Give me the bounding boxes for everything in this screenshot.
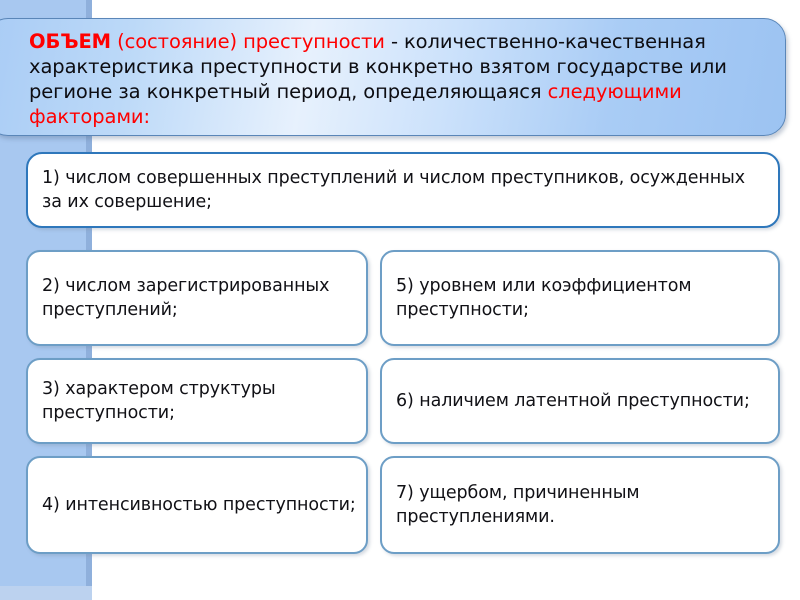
factor-box-3[interactable]: 3) характером структуры преступности; [26,358,368,444]
bottom-decorative-band [0,586,92,600]
factor-text-3: 3) характером структуры преступности; [42,377,356,425]
header-term-state: (состояние) преступности [111,30,385,53]
factor-box-4[interactable]: 4) интенсивностью преступности; [26,456,368,554]
slide-canvas: ОБЪЕМ (состояние) преступности - количес… [0,0,800,600]
factor-box-7[interactable]: 7) ущербом, причиненным преступлениями. [380,456,780,554]
factor-text-5: 5) уровнем или коэффициентом преступност… [396,274,768,322]
factor-box-2[interactable]: 2) числом зарегистрированных преступлени… [26,250,368,346]
factor-box-6[interactable]: 6) наличием латентной преступности; [380,358,780,444]
header-term-volume: ОБЪЕМ [29,30,111,53]
factor-box-5[interactable]: 5) уровнем или коэффициентом преступност… [380,250,780,346]
factor-box-1[interactable]: 1) числом совершенных преступлений и чис… [26,152,780,228]
header-text: ОБЪЕМ (состояние) преступности - количес… [29,29,769,129]
factor-text-1: 1) числом совершенных преступлений и чис… [42,166,768,214]
factor-text-7: 7) ущербом, причиненным преступлениями. [396,481,768,529]
factor-text-6: 6) наличием латентной преступности; [396,389,750,413]
factor-text-4: 4) интенсивностью преступности; [42,493,356,517]
factor-text-2: 2) числом зарегистрированных преступлени… [42,274,356,322]
header-callout: ОБЪЕМ (состояние) преступности - количес… [0,18,786,136]
